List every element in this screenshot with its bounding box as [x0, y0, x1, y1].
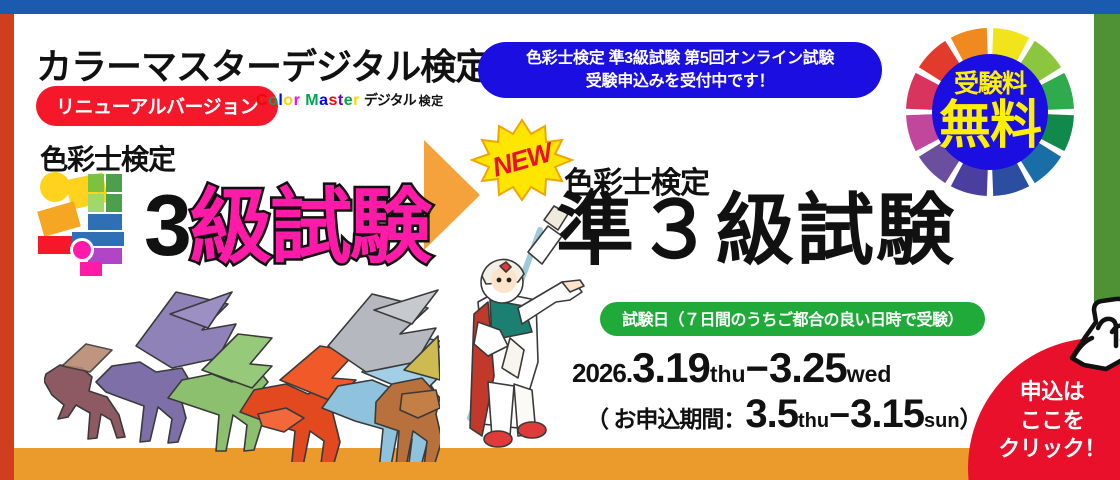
- fee-badge-line2: 無料: [939, 100, 1041, 152]
- cta-line2: ここを: [986, 407, 1118, 436]
- color-master-logo: Color Masterデジタル検定: [256, 90, 444, 110]
- exam-start-weekday: thu: [710, 361, 746, 387]
- logo-kanji: 検定: [419, 94, 444, 108]
- main-title: 準３級試験: [556, 190, 956, 272]
- left-grade-number: 3: [144, 190, 188, 263]
- announcement-line2: 受験申込みを受付中です！: [586, 70, 774, 93]
- frame-bar-top: [0, 0, 1120, 14]
- logo-kana: デジタル: [364, 92, 416, 108]
- jun-color-blocks-icon: [34, 168, 142, 263]
- application-start-weekday: thu: [798, 410, 829, 432]
- promo-banner: カラーマスターデジタル検定 リニューアルバージョン Color Masterデジ…: [0, 0, 1120, 480]
- announcement-box: 色彩士検定 準3級試験 第5回オンライン試験 受験申込みを受付中です！: [478, 42, 882, 98]
- new-badge: NEW: [470, 118, 574, 202]
- logo-letter-6: M: [305, 92, 319, 110]
- exam-end-date: 3.25: [769, 344, 847, 391]
- fee-badge: 受験料 無料: [906, 28, 1074, 196]
- dinosaur-group-illustration: [44, 262, 440, 462]
- logo-letter-10: e: [344, 92, 353, 110]
- exam-date-pill: 試験日（７日間のうちご都合の良い日時で受験）: [600, 302, 985, 336]
- frame-bar-left: [0, 14, 14, 480]
- application-date-dash: −: [829, 394, 850, 435]
- exam-start-date: 3.19: [632, 344, 710, 391]
- application-period-line: （ お申込期間：3.5thu−3.15sun）: [586, 392, 982, 437]
- logo-letter-11: r: [353, 92, 360, 110]
- logo-letter-8: s: [329, 92, 338, 110]
- fee-badge-caption: 受験料 無料: [906, 28, 1074, 196]
- cta-label[interactable]: 申込は ここを クリック！: [986, 378, 1118, 464]
- exam-date-line: 2026.3.19thu−3.25wed: [572, 344, 891, 392]
- left-grade-label: 級試験: [190, 193, 430, 263]
- application-end-weekday: sun: [924, 410, 960, 432]
- cta-line3: クリック！: [986, 435, 1118, 464]
- pointing-hand-icon: [1064, 288, 1120, 374]
- exam-date-dash: −: [746, 347, 769, 391]
- fee-badge-line1: 受験料: [954, 72, 1026, 97]
- cta-line1: 申込は: [986, 378, 1118, 407]
- left-grade-group: 3 級試験: [34, 168, 430, 263]
- application-start-date: 3.5: [745, 392, 798, 436]
- banner-title: カラーマスターデジタル検定: [36, 38, 490, 90]
- logo-letter-1: o: [268, 92, 278, 110]
- logo-letter-3: o: [283, 92, 293, 110]
- exam-end-weekday: wed: [847, 361, 892, 387]
- application-prefix: （ お申込期間：: [586, 406, 745, 432]
- logo-letter-0: C: [256, 92, 268, 110]
- announcement-line1: 色彩士検定 準3級試験 第5回オンライン試験: [526, 47, 834, 70]
- application-end-date: 3.15: [850, 392, 924, 436]
- renewal-badge: リニューアルバージョン: [36, 86, 278, 126]
- logo-letter-7: a: [319, 92, 328, 110]
- color-master-letters: Color Master: [256, 92, 360, 109]
- exam-year: 2026.: [572, 358, 632, 388]
- logo-letter-4: r: [294, 92, 301, 110]
